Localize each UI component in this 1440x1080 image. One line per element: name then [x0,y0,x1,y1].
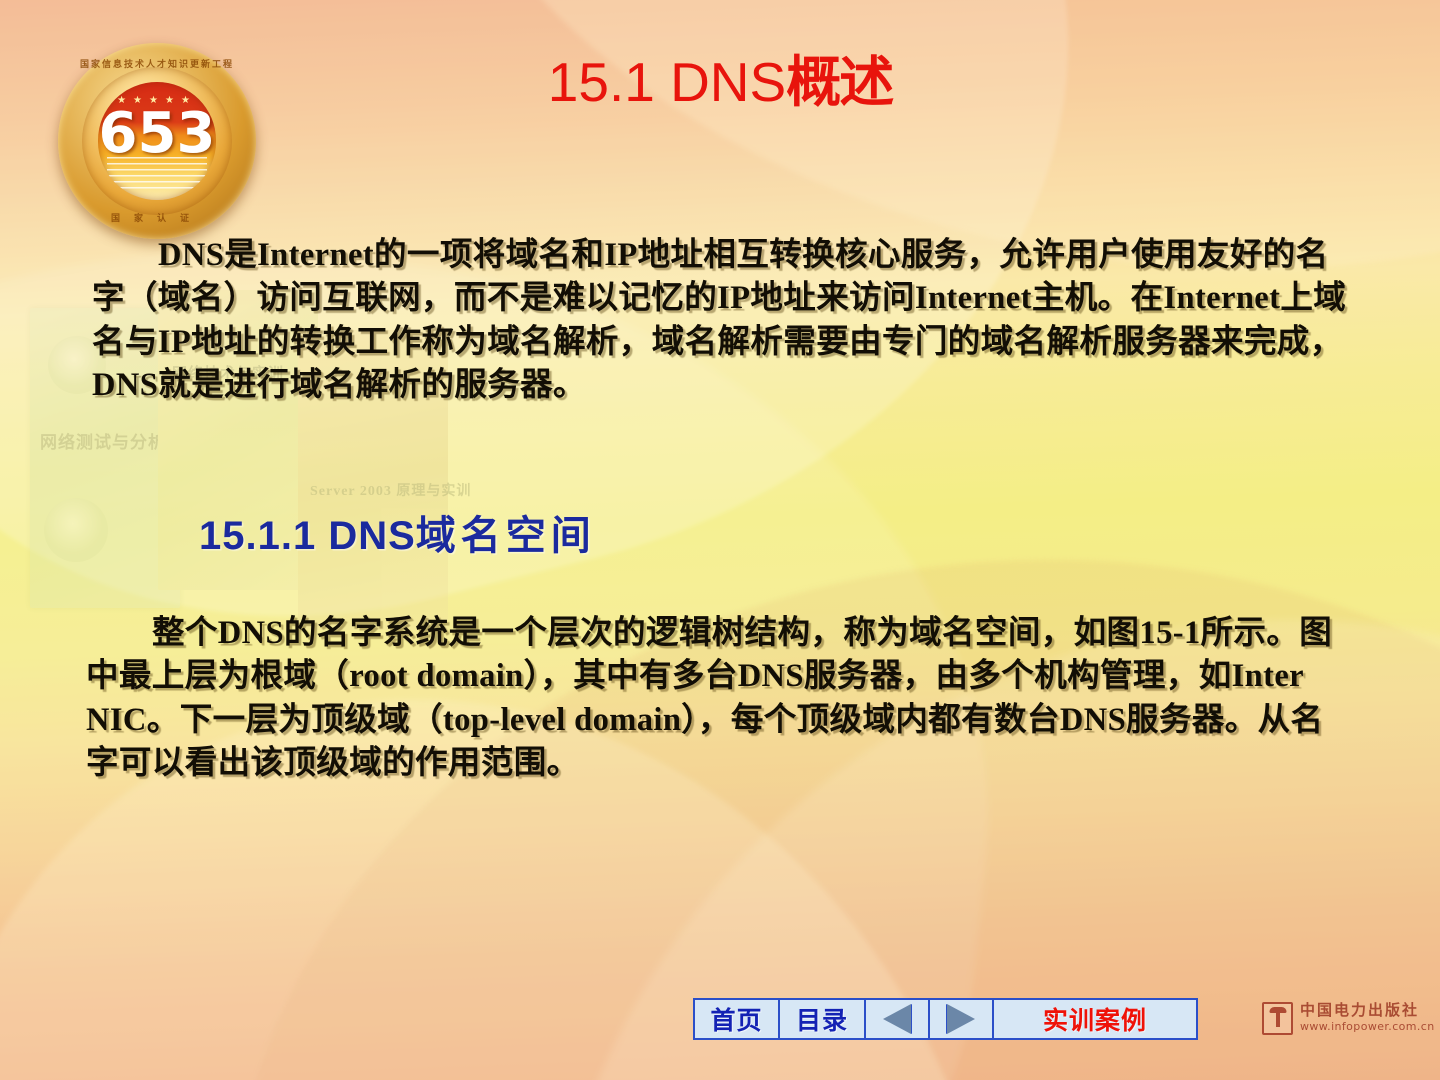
logo-number: 653 [98,106,217,162]
body-paragraph-2: 整个DNS的名字系统是一个层次的逻辑树结构，称为域名空间，如图15-1所示。图中… [86,612,1354,786]
slide-title: 15.1 DNS概述 [0,52,1440,113]
triangle-right-icon [947,1004,975,1034]
slide-title-number: 15.1 DNS [548,51,786,113]
nav-home-label: 首页 [710,1001,762,1037]
triangle-left-icon [883,1004,911,1034]
nav-contents-button[interactable]: 目录 [779,998,865,1040]
subheading-cn: 域名空间 [416,513,596,559]
book-title-1: 网络测试与分析 [40,428,166,453]
section-subheading: 15.1.1 DNS域名空间 [199,503,596,561]
book-title-3: Server 2003 原理与实训 [310,480,471,500]
logo-lines [107,157,207,192]
slide-canvas: 网络测试与分析 网络技术与实训 Server 2003 原理与实训 ★★★★★ … [0,0,1440,1080]
publisher-mark-icon [1262,1002,1293,1035]
publisher-logo: 中国电力出版社 www.infopower.com.cn [1262,992,1428,1044]
nav-previous-button[interactable] [865,998,929,1040]
nav-home-button[interactable]: 首页 [693,998,779,1040]
publisher-text: 中国电力出版社 www.infopower.com.cn [1300,1003,1435,1032]
nav-contents-label: 目录 [796,1001,848,1037]
subheading-number: 15.1.1 DNS [199,514,416,558]
publisher-url: www.infopower.com.cn [1300,1021,1435,1033]
slide-title-cn: 概述 [786,50,892,114]
logo-arc-bottom-text: 国家认证 [58,211,256,224]
body-paragraph-1: DNS是Internet的一项将域名和IP地址相互转换核心服务，允许用户使用友好… [92,234,1354,408]
nav-next-button[interactable] [929,998,993,1040]
nav-training-case-button[interactable]: 实训案例 [993,998,1198,1040]
slide-navigation-bar: 首页 目录 实训案例 [693,998,1198,1040]
book-disc-2 [44,498,108,562]
publisher-name: 中国电力出版社 [1300,1003,1435,1019]
nav-training-case-label: 实训案例 [1043,1001,1147,1037]
